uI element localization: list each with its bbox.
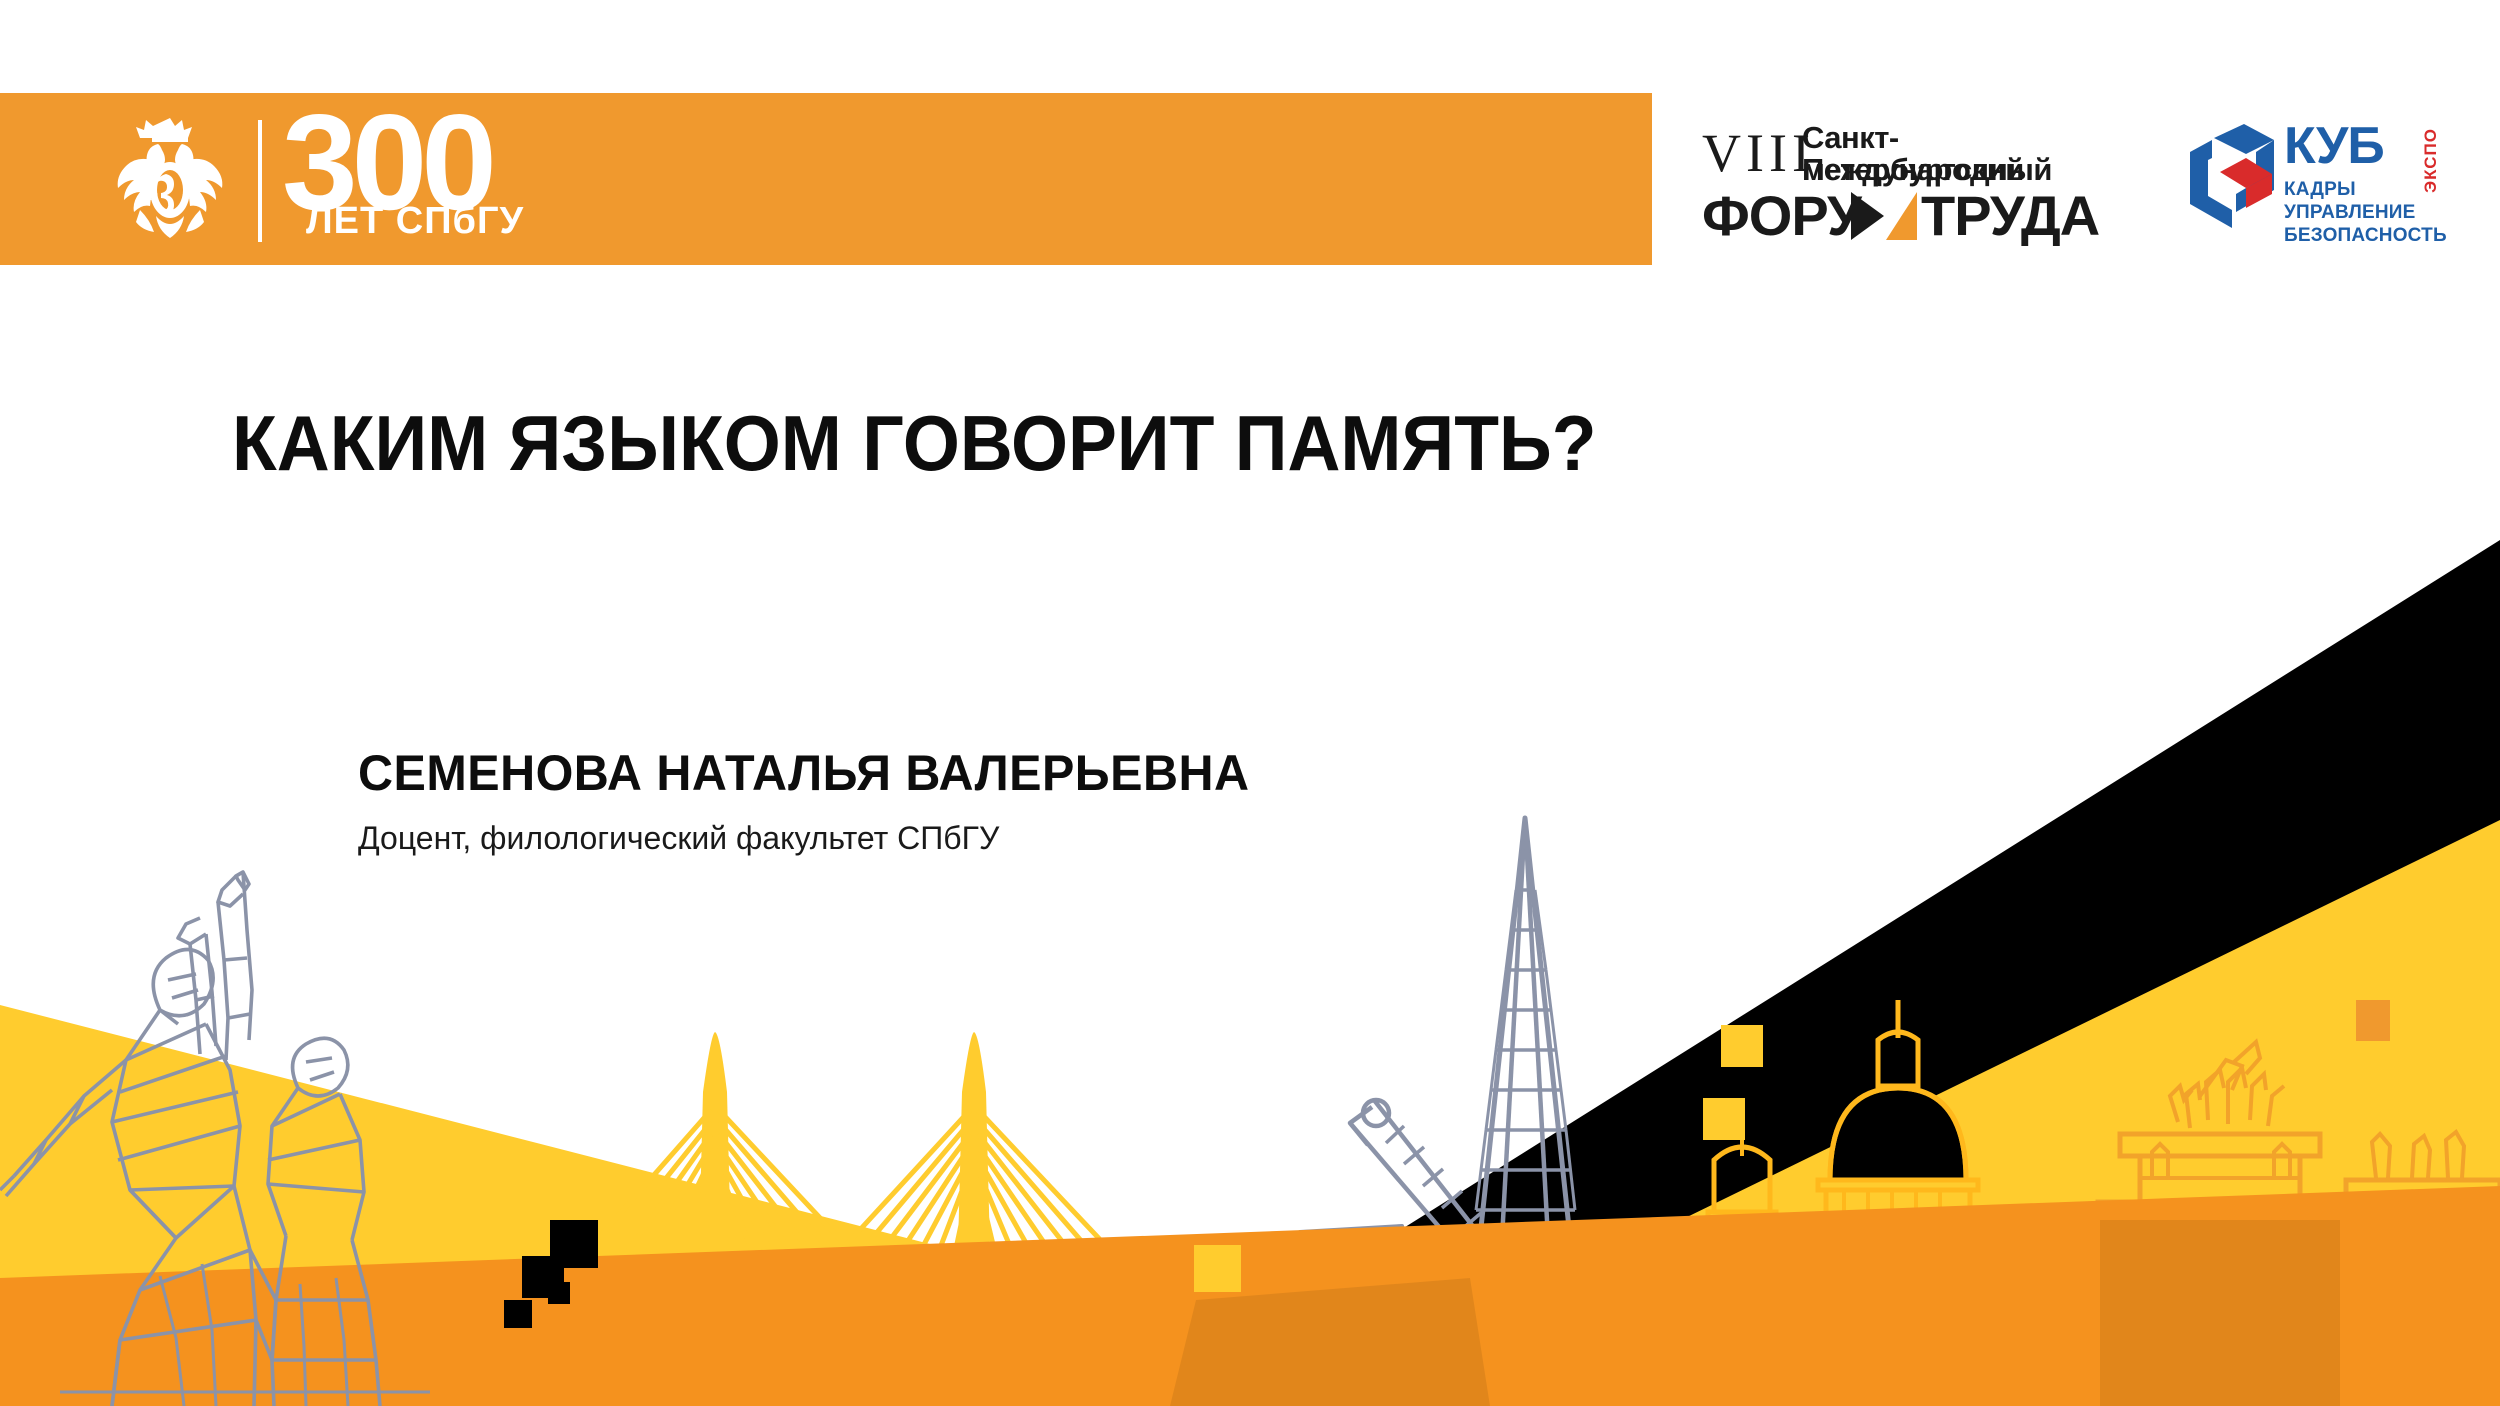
svg-text:17: 17 [148,192,158,202]
speaker-name: СЕМЕНОВА НАТАЛЬЯ ВАЛЕРЬЕВНА [358,748,1250,798]
forum-triangle-mark [1851,192,1917,240]
slide-header: 17 24 300 ЛЕТ СПбГУ VIII Санкт-Петербург… [0,0,2500,290]
kub-tagline-line1: КАДРЫ [2284,178,2447,201]
decor-square-yellow-2 [1721,1025,1763,1067]
forum-wordmark: ФОРУ ТРУДА [1702,188,2110,246]
forum-word-forum: ФОРУ [1702,188,1861,244]
kub-tagline-line2: УПРАВЛЕНИЕ [2284,201,2447,224]
speaker-block: СЕМЕНОВА НАТАЛЬЯ ВАЛЕРЬЕВНА Доцент, фило… [358,748,1277,854]
labour-forum-logo: VIII Санкт-Петербургский международный Ф… [1702,122,2110,246]
kub-tagline: КАДРЫ УПРАВЛЕНИЕ БЕЗОПАСНОСТЬ [2284,178,2447,248]
svg-text:24: 24 [182,192,192,202]
kub-wordmark: КУБ [2284,120,2384,172]
presentation-slide: 17 24 300 ЛЕТ СПбГУ VIII Санкт-Петербург… [0,0,2500,1406]
decor-square-orange-1 [2356,1000,2390,1041]
spbgu-300-logo: 17 24 300 ЛЕТ СПбГУ [106,110,526,250]
decor-square-black-4 [504,1300,532,1328]
logo-divider [258,120,262,242]
spbgu-double-headed-eagle-emblem: 17 24 [106,112,234,248]
decor-square-yellow-1 [1703,1098,1745,1140]
logo-300-caption: ЛЕТ СПбГУ [306,202,524,240]
forum-roman-numeral: VIII [1702,126,1815,180]
kub-expo-logo: КУБ ЭКСПО КАДРЫ УПРАВЛЕНИЕ БЕЗОПАСНОСТЬ [2186,118,2454,248]
decor-square-black-3 [548,1282,570,1304]
kub-tagline-line3: БЕЗОПАСНОСТЬ [2284,224,2447,247]
decor-square-yellow-3 [1194,1245,1241,1292]
forum-subtitle-line2: международный [1802,154,2052,186]
logo-300-wrap: 300 ЛЕТ СПбГУ [282,110,532,250]
kub-cube-mark [2186,124,2278,230]
page-title: КАКИМ ЯЗЫКОМ ГОВОРИТ ПАМЯТЬ? [232,404,1596,482]
speaker-role: Доцент, филологический факультет СПбГУ [358,822,1277,854]
forum-word-truda: ТРУДА [1921,188,2099,244]
